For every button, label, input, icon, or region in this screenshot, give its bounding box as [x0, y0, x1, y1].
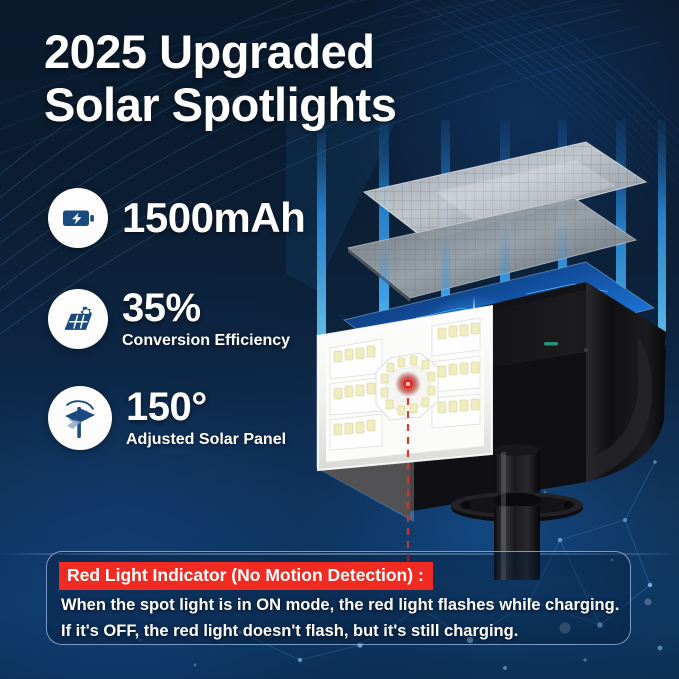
- feature-battery-capacity: 1500mAh: [48, 188, 305, 248]
- info-line-2: If it's OFF, the red light doesn't flash…: [61, 622, 518, 641]
- feature-text-block: 150° Adjusted Solar Panel: [126, 387, 286, 449]
- feature-icon-circle: [48, 188, 108, 248]
- solar-panel-sun-icon: [58, 299, 98, 339]
- feature-subtitle: Adjusted Solar Panel: [126, 431, 286, 449]
- feature-value: 35%: [122, 288, 290, 328]
- solar-panel-layer-circuit: [344, 262, 654, 370]
- adjustable-panel-icon: [58, 396, 102, 440]
- solar-panel-layer-top: [364, 142, 646, 240]
- feature-text-block: 1500mAh: [122, 197, 305, 239]
- led-face-panel: [316, 306, 492, 522]
- feature-value: 1500mAh: [122, 197, 305, 239]
- solar-spotlight-product-illustration: [286, 120, 679, 580]
- red-indicator-led: [395, 371, 421, 397]
- feature-adjustable-panel: 150° Adjusted Solar Panel: [48, 386, 286, 450]
- info-line-1: When the spot light is in ON mode, the r…: [61, 596, 619, 615]
- pole-bracket: [451, 492, 583, 522]
- feature-text-block: 35% Conversion Efficiency: [122, 288, 290, 350]
- product-marketing-image: 2025 Upgraded Solar Spotlights 1500mAh: [0, 0, 679, 679]
- battery-charging-icon: [58, 198, 98, 238]
- headline-line-1: 2025 Upgraded: [44, 25, 374, 78]
- page-title: 2025 Upgraded Solar Spotlights: [44, 26, 514, 131]
- feature-icon-circle: [48, 289, 108, 349]
- feature-value: 150°: [126, 387, 286, 427]
- spotlight-housing: [330, 282, 666, 512]
- feature-conversion-efficiency: 35% Conversion Efficiency: [48, 288, 290, 350]
- red-light-indicator-info-box: Red Light Indicator (No Motion Detection…: [46, 551, 631, 645]
- headline-line-2: Solar Spotlights: [44, 79, 514, 132]
- status-badge: Red Light Indicator (No Motion Detection…: [59, 562, 433, 590]
- feature-icon-circle: [48, 386, 112, 450]
- feature-subtitle: Conversion Efficiency: [122, 332, 290, 350]
- solar-panel-layer-mid: [348, 198, 636, 302]
